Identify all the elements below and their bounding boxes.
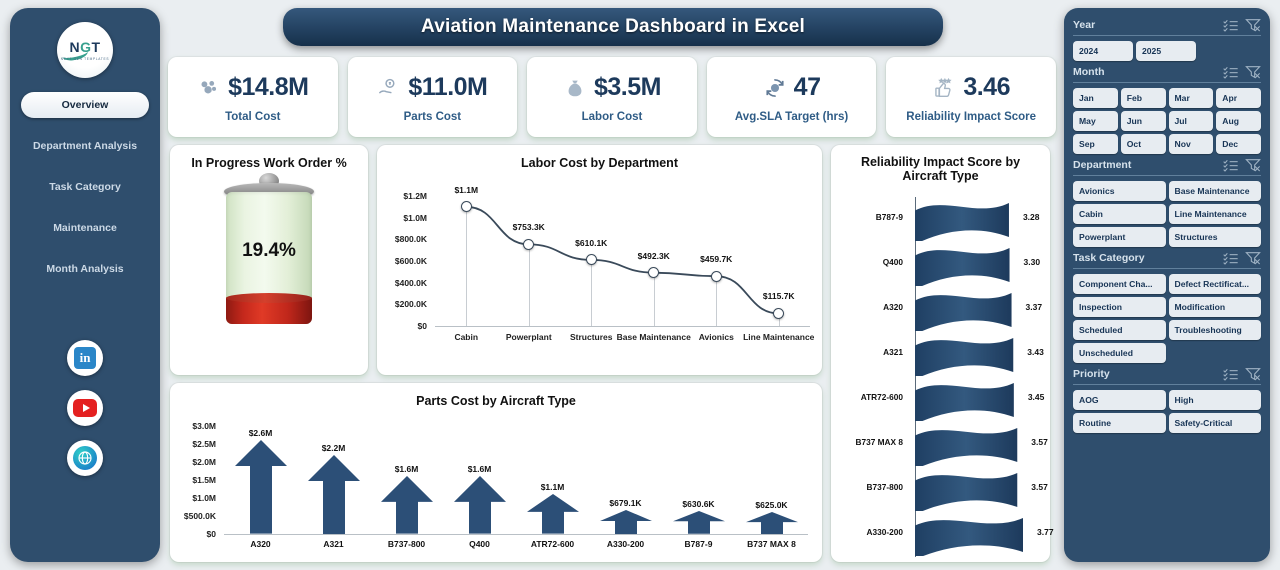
kpi-value: $14.8M <box>228 73 308 102</box>
multi-select-icon[interactable] <box>1223 18 1239 32</box>
reliability-flag-bar <box>915 289 1016 331</box>
kpi-value: $11.0M <box>408 73 487 102</box>
kpi-value: 47 <box>794 73 821 102</box>
reliability-flag-bar <box>915 424 1021 466</box>
slicer-option[interactable]: Jan <box>1073 88 1118 108</box>
reliability-category-label: B737-800 <box>837 482 903 492</box>
slicer-options-month: JanFebMarAprMayJunJulAugSepOctNovDec <box>1073 88 1261 154</box>
slicer-divider <box>1073 384 1261 385</box>
parts-category-label: B737 MAX 8 <box>732 539 812 549</box>
hand-coin-icon <box>377 76 401 100</box>
slicer-option[interactable]: Apr <box>1216 88 1261 108</box>
slicer-header-department: Department <box>1073 158 1261 172</box>
slicer-option[interactable]: Modification <box>1169 297 1262 317</box>
parts-category-label: A321 <box>294 539 374 549</box>
in-progress-gauge-panel: In Progress Work Order % 19.4% <box>170 145 368 375</box>
logo-letter-n: N <box>69 39 80 55</box>
parts-data-label: $630.6K <box>659 499 739 509</box>
gears-money-icon <box>197 76 221 100</box>
labor-chart-title: Labor Cost by Department <box>377 145 822 170</box>
kpi-value: $3.5M <box>594 73 661 102</box>
slicer-option[interactable]: Scheduled <box>1073 320 1166 340</box>
parts-cost-chart-panel: Parts Cost by Aircraft Type $3.0M$2.5M$2… <box>170 383 822 562</box>
slicer-options-year: 20242025 <box>1073 41 1261 61</box>
reliability-category-label: B787-9 <box>837 212 903 222</box>
sidebar: NGT NEXT GEN TEMPLATES OverviewDepartmen… <box>10 8 160 562</box>
slicer-header-month: Month <box>1073 65 1261 79</box>
dashboard-root: NGT NEXT GEN TEMPLATES OverviewDepartmen… <box>0 0 1280 570</box>
parts-x-axis <box>224 534 808 535</box>
page-title: Aviation Maintenance Dashboard in Excel <box>421 16 805 38</box>
linkedin-icon: in <box>74 347 96 369</box>
kpi-label: Labor Cost <box>582 111 643 123</box>
slicer-divider <box>1073 35 1261 36</box>
parts-ytick: $500.0K <box>170 511 216 521</box>
reliability-bar-row: A3213.43 <box>831 332 1050 376</box>
reliability-flag-bar <box>915 334 1017 376</box>
slicer-option[interactable]: Oct <box>1121 134 1166 154</box>
social-links: in <box>67 340 103 476</box>
parts-data-label: $625.0K <box>732 500 812 510</box>
parts-arrow-bar <box>381 476 433 534</box>
reliability-chart-panel: Reliability Impact Score by Aircraft Typ… <box>831 145 1050 562</box>
logo-subtitle: NEXT GEN TEMPLATES <box>61 57 109 61</box>
thumbs-up-stars-icon <box>932 76 956 100</box>
youtube-icon <box>73 399 97 417</box>
kpi-card-parts-cost: $11.0MParts Cost <box>348 57 518 137</box>
slicer-option[interactable]: Troubleshooting <box>1169 320 1262 340</box>
ngt-logo: NGT NEXT GEN TEMPLATES <box>57 22 113 78</box>
labor-cost-chart-panel: Labor Cost by Department $1.2M$1.0M$800.… <box>377 145 822 375</box>
slicer-option[interactable]: Component Cha... <box>1073 274 1166 294</box>
kpi-label: Parts Cost <box>404 111 462 123</box>
slicer-option[interactable]: Sep <box>1073 134 1118 154</box>
slicer-divider <box>1073 82 1261 83</box>
globe-icon <box>73 446 97 470</box>
sidebar-item-label: Overview <box>62 99 109 111</box>
filter-panel: Year20242025MonthJanFebMarAprMayJunJulAu… <box>1064 8 1270 562</box>
kpi-label: Avg.SLA Target (hrs) <box>735 111 848 123</box>
parts-chart-plot: $3.0M$2.5M$2.0M$1.5M$1.0M$500.0K$0$2.6MA… <box>170 408 822 557</box>
parts-arrow-bar <box>527 494 579 534</box>
slicer-option[interactable]: 2025 <box>1136 41 1196 61</box>
slicer-option[interactable]: Feb <box>1121 88 1166 108</box>
clear-filter-icon[interactable] <box>1245 18 1261 32</box>
slicer-option[interactable]: Aug <box>1216 111 1261 131</box>
slicer-option[interactable]: Jul <box>1169 111 1214 131</box>
multi-select-icon[interactable] <box>1223 367 1239 381</box>
reliability-flag-bar <box>915 379 1018 421</box>
slicer-option[interactable]: Avionics <box>1073 181 1166 201</box>
reliability-data-label: 3.43 <box>1027 347 1044 357</box>
reliability-bar-row: ATR72-6003.45 <box>831 377 1050 421</box>
kpi-label: Total Cost <box>225 111 280 123</box>
slicer-option[interactable]: Line Maintenance <box>1169 204 1262 224</box>
kpi-label: Reliability Impact Score <box>906 111 1036 123</box>
slicer-option[interactable]: Cabin <box>1073 204 1166 224</box>
logo-text: NGT <box>69 39 100 55</box>
parts-arrow-bar <box>746 512 798 535</box>
clear-filter-icon[interactable] <box>1245 251 1261 265</box>
reliability-flag-bar <box>915 244 1014 286</box>
reliability-chart-plot: B787-93.28Q4003.30A3203.37A3213.43ATR72-… <box>831 183 1050 570</box>
reliability-bar-row: A3203.37 <box>831 287 1050 331</box>
parts-category-label: B737-800 <box>367 539 447 549</box>
slicer-title: Month <box>1073 66 1217 78</box>
slicer-options-task-category: Component Cha...Defect Rectificat...Insp… <box>1073 274 1261 363</box>
kpi-value: 3.46 <box>963 73 1010 102</box>
clear-filter-icon[interactable] <box>1245 158 1261 172</box>
sidebar-item-overview[interactable]: Overview <box>21 92 149 118</box>
slicer-option[interactable]: Routine <box>1073 413 1166 433</box>
reliability-category-label: A330-200 <box>837 527 903 537</box>
slicer-header-task-category: Task Category <box>1073 251 1261 265</box>
slicer-options-priority: AOGHighRoutineSafety-Critical <box>1073 390 1261 433</box>
kpi-card-labor-cost: $3.5MLabor Cost <box>527 57 697 137</box>
parts-category-label: Q400 <box>440 539 520 549</box>
slicer-header-priority: Priority <box>1073 367 1261 381</box>
reliability-data-label: 3.37 <box>1026 302 1043 312</box>
slicer-option[interactable]: Safety-Critical <box>1169 413 1262 433</box>
kpi-card-total-cost: $14.8MTotal Cost <box>168 57 338 137</box>
parts-ytick: $2.0M <box>170 457 216 467</box>
sidebar-item-label: Task Category <box>49 181 121 193</box>
sidebar-item-task-category[interactable]: Task Category <box>21 174 149 200</box>
parts-arrow-bar <box>673 511 725 534</box>
multi-select-icon[interactable] <box>1223 65 1239 79</box>
slicer-option[interactable]: Defect Rectificat... <box>1169 274 1262 294</box>
clear-filter-icon[interactable] <box>1245 65 1261 79</box>
parts-arrow-bar <box>454 476 506 534</box>
website-button[interactable] <box>67 440 103 476</box>
parts-ytick: $0 <box>170 529 216 539</box>
parts-data-label: $1.6M <box>367 464 447 474</box>
sidebar-item-label: Maintenance <box>53 222 117 234</box>
reliability-data-label: 3.28 <box>1023 212 1040 222</box>
reliability-bar-row: B737 MAX 83.57 <box>831 422 1050 466</box>
reliability-flag-bar <box>915 514 1027 556</box>
money-bag-icon <box>563 76 587 100</box>
linkedin-button[interactable]: in <box>67 340 103 376</box>
reliability-category-label: A321 <box>837 347 903 357</box>
parts-data-label: $2.2M <box>294 443 374 453</box>
dashboard-title-bar: Aviation Maintenance Dashboard in Excel <box>283 8 943 46</box>
reliability-data-label: 3.45 <box>1028 392 1045 402</box>
slicer-option[interactable]: High <box>1169 390 1262 410</box>
reliability-category-label: ATR72-600 <box>837 392 903 402</box>
reliability-flag-bar <box>915 199 1013 241</box>
sidebar-item-maintenance[interactable]: Maintenance <box>21 215 149 241</box>
slicer-option[interactable]: AOG <box>1073 390 1166 410</box>
parts-arrow-bar <box>308 455 360 534</box>
slicer-option[interactable]: Dec <box>1216 134 1261 154</box>
reliability-data-label: 3.30 <box>1024 257 1041 267</box>
labor-line-series <box>377 170 822 370</box>
kpi-card-avg-sla-target-hrs: 47Avg.SLA Target (hrs) <box>707 57 877 137</box>
slicer-divider <box>1073 175 1261 176</box>
parts-arrow-bar <box>600 510 652 534</box>
multi-select-icon[interactable] <box>1223 158 1239 172</box>
sidebar-item-label: Department Analysis <box>33 140 137 152</box>
logo-letter-g: G <box>80 39 91 55</box>
slicer-title: Year <box>1073 19 1217 31</box>
logo-letter-t: T <box>91 39 100 55</box>
reliability-bar-row: B787-93.28 <box>831 197 1050 241</box>
parts-ytick: $1.5M <box>170 475 216 485</box>
multi-select-icon[interactable] <box>1223 251 1239 265</box>
youtube-button[interactable] <box>67 390 103 426</box>
gauge-title: In Progress Work Order % <box>170 145 368 170</box>
reliability-bar-row: B737-8003.57 <box>831 467 1050 511</box>
slicer-option[interactable]: Structures <box>1169 227 1262 247</box>
slicer-option[interactable]: Inspection <box>1073 297 1166 317</box>
parts-data-label: $679.1K <box>586 498 666 508</box>
labor-data-point <box>711 271 722 282</box>
sidebar-nav: OverviewDepartment AnalysisTask Category… <box>10 92 160 297</box>
slicer-option[interactable]: Base Maintenance <box>1169 181 1262 201</box>
sidebar-item-department-analysis[interactable]: Department Analysis <box>21 133 149 159</box>
gauge-fill <box>226 298 312 324</box>
parts-data-label: $1.1M <box>513 482 593 492</box>
reliability-bar-row: A330-2003.77 <box>831 512 1050 556</box>
parts-ytick: $2.5M <box>170 439 216 449</box>
labor-chart-plot: $1.2M$1.0M$800.0K$600.0K$400.0K$200.0K$0… <box>377 170 822 370</box>
reliability-category-label: Q400 <box>837 257 903 267</box>
slicer-option[interactable]: 2024 <box>1073 41 1133 61</box>
reliability-data-label: 3.77 <box>1037 527 1054 537</box>
slicer-option[interactable]: May <box>1073 111 1118 131</box>
parts-ytick: $3.0M <box>170 421 216 431</box>
cylinder-gauge: 19.4% <box>170 170 368 345</box>
kpi-row: $14.8MTotal Cost$11.0MParts Cost$3.5MLab… <box>168 57 1056 137</box>
reliability-flag-bar <box>915 469 1021 511</box>
sidebar-item-month-analysis[interactable]: Month Analysis <box>21 256 149 282</box>
reliability-data-label: 3.57 <box>1031 437 1048 447</box>
parts-chart-title: Parts Cost by Aircraft Type <box>170 383 822 408</box>
slicer-option[interactable]: Powerplant <box>1073 227 1166 247</box>
parts-category-label: A320 <box>221 539 301 549</box>
parts-category-label: A330-200 <box>586 539 666 549</box>
parts-category-label: B787-9 <box>659 539 739 549</box>
gauge-value: 19.4% <box>242 240 296 262</box>
slicer-header-year: Year <box>1073 18 1261 32</box>
slicer-option[interactable]: Jun <box>1121 111 1166 131</box>
slicer-title: Priority <box>1073 368 1217 380</box>
slicer-title: Task Category <box>1073 252 1217 264</box>
reliability-category-label: B737 MAX 8 <box>837 437 903 447</box>
parts-ytick: $1.0M <box>170 493 216 503</box>
clear-filter-icon[interactable] <box>1245 367 1261 381</box>
slicer-option[interactable]: Mar <box>1169 88 1214 108</box>
slicer-divider <box>1073 268 1261 269</box>
kpi-card-reliability-impact-score: 3.46Reliability Impact Score <box>886 57 1056 137</box>
slicer-option[interactable]: Nov <box>1169 134 1214 154</box>
slicer-option[interactable]: Unscheduled <box>1073 343 1166 363</box>
slicer-title: Department <box>1073 159 1217 171</box>
parts-data-label: $2.6M <box>221 428 301 438</box>
reliability-chart-title: Reliability Impact Score by Aircraft Typ… <box>831 145 1050 183</box>
parts-data-label: $1.6M <box>440 464 520 474</box>
reliability-data-label: 3.57 <box>1031 482 1048 492</box>
reliability-category-label: A320 <box>837 302 903 312</box>
parts-arrow-bar <box>235 440 287 534</box>
sidebar-item-label: Month Analysis <box>46 263 123 275</box>
slicer-options-department: AvionicsBase MaintenanceCabinLine Mainte… <box>1073 181 1261 247</box>
clock-refresh-icon <box>763 76 787 100</box>
parts-category-label: ATR72-600 <box>513 539 593 549</box>
reliability-bar-row: Q4003.30 <box>831 242 1050 286</box>
